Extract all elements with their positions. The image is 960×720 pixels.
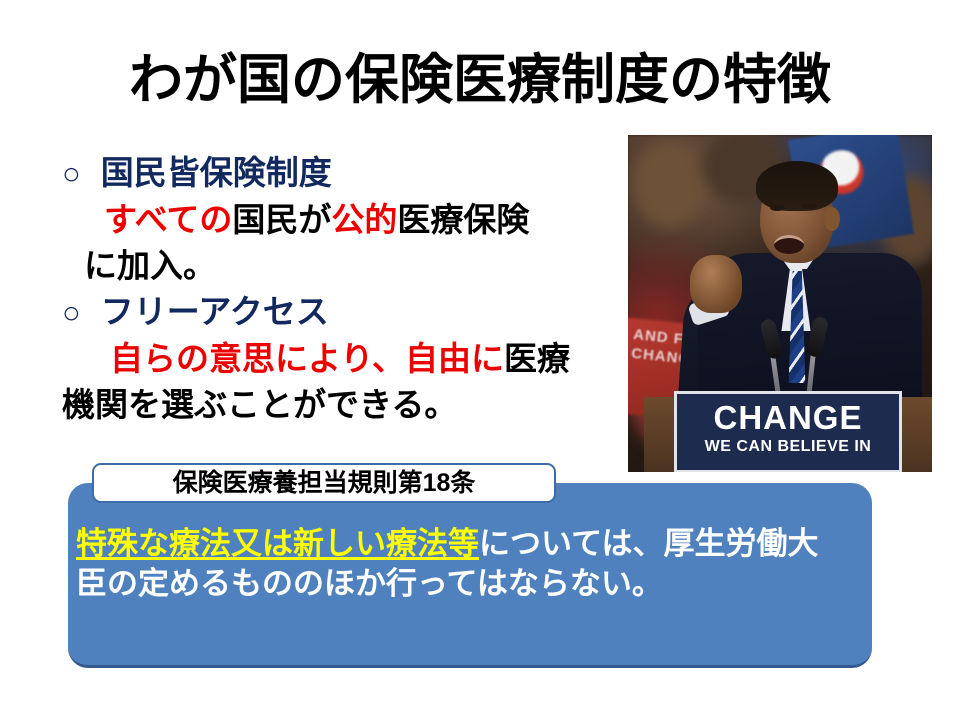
bullet-marker-icon-2: ○ <box>62 295 81 330</box>
callout-line-2: 臣の定めるもののほか行ってはならない。 <box>76 564 866 604</box>
bullet-detail-line-1a: すべての国民が公的医療保険 <box>62 197 632 243</box>
speaker-mouth <box>774 235 804 254</box>
crowd-blob <box>634 141 704 227</box>
text-run-black-1: 国民が <box>232 201 331 238</box>
speaker-fist <box>690 255 742 313</box>
text-run-red-3: 自らの意思により、自由に <box>110 340 504 377</box>
text-run-red-2: 公的 <box>331 201 397 238</box>
podium-sign-primary-text: CHANGE <box>677 399 899 437</box>
text-run-black-3: に加入。 <box>84 247 216 284</box>
text-run-black-2: 医療保険 <box>397 201 529 238</box>
text-run-black-5: 機関を選ぶことができる。 <box>62 386 457 423</box>
page-title: わが国の保険医療制度の特徴 <box>0 50 960 110</box>
bullet-heading-label-2: フリーアクセス <box>93 293 329 330</box>
callout-line-1-rest: については、厚生労働大 <box>479 526 818 561</box>
speaker-eye-right <box>802 203 817 209</box>
text-run-red-1: すべての <box>104 201 232 238</box>
callout-highlight-text: 特殊な療法又は新しい療法等 <box>76 526 479 561</box>
rally-photo: AND FOR CHANGE CHANGE WE CAN BELIEVE IN <box>628 135 932 472</box>
bullet-heading-label-1: 国民皆保険制度 <box>93 154 332 191</box>
speaker-eye-left <box>770 205 785 211</box>
regulation-label-tab: 保険医療養担当規則第18条 <box>92 463 556 503</box>
text-run-black-4: 医療 <box>504 340 570 377</box>
speaker-ear <box>824 207 840 231</box>
regulation-callout-text: 特殊な療法又は新しい療法等については、厚生労働大 臣の定めるもののほか行ってはな… <box>76 524 866 604</box>
regulation-label-text: 保険医療養担当規則第18条 <box>94 465 554 501</box>
bullet-detail-line-2a: 自らの意思により、自由に医療 <box>62 336 632 382</box>
podium-sign-secondary-text: WE CAN BELIEVE IN <box>677 437 899 457</box>
bullet-detail-line-1b: に加入。 <box>62 243 632 289</box>
bullet-body-block: ○国民皆保険制度 すべての国民が公的医療保険 に加入。 ○フリーアクセス 自らの… <box>62 150 632 428</box>
bullet-marker-icon: ○ <box>62 156 81 191</box>
speaker-hair <box>756 161 838 211</box>
podium-sign: CHANGE WE CAN BELIEVE IN <box>674 391 902 472</box>
bullet-heading-row-1: ○国民皆保険制度 <box>62 150 632 197</box>
callout-line-1: 特殊な療法又は新しい療法等については、厚生労働大 <box>76 524 866 564</box>
bullet-detail-line-2b: 機関を選ぶことができる。 <box>62 382 632 428</box>
bullet-heading-row-2: ○フリーアクセス <box>62 289 632 336</box>
